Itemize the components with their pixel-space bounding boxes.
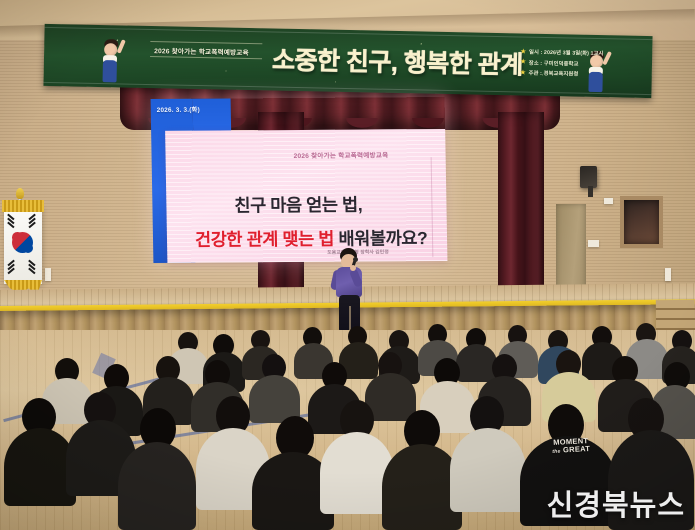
flag-finial-icon [16,188,24,199]
microphone-head-icon [353,257,358,262]
slide-eyebrow-text: 2026 찾아가는 학교폭력예방교육 [293,149,388,160]
banner-info-list: ★ 일시 : 2026년 3월 3일(화) 1교시 ★ 장소 : 구미인덕중학교… [520,47,641,81]
banner-info-text: 일시 : 2026년 3월 3일(화) 1교시 [529,48,604,57]
banner-info-item: ★ 장소 : 구미인덕중학교 [520,58,640,68]
taeguk-red-half [12,232,23,243]
student-body [450,428,526,512]
flag-fringe-top [2,200,44,212]
slide-headline-rest: 배워볼까요? [334,228,428,249]
banner-info-item: ★ 일시 : 2026년 3월 3일(화) 1교시 [520,47,640,57]
banner-info-text: 장소 : 구미인덕중학교 [529,58,579,67]
light-switch-icon [665,268,671,281]
presenter-hand [350,265,356,271]
star-icon: ★ [520,69,526,76]
speaker-bracket [588,186,593,197]
jacket-the: the [552,448,561,454]
projection-screen: 2026. 3. 3.(화) 2026 찾아가는 학교폭력예방교육 친구 마음 … [151,97,448,263]
stage-curtain-right [498,112,544,308]
banner-info-text: 주관 : 경북교육지원청 [529,69,579,78]
slide-date-label: 2026. 3. 3.(화) [157,105,200,114]
slide-headline-highlight: 건강한 관계 맺는 법 [195,229,334,250]
photo-canvas: 2026 찾아가는 학교폭력예방교육 소중한 친구, 행복한 관계 ★ 일시 :… [0,0,695,530]
wall-outlet-icon [588,240,599,247]
taeguk-blue-half [23,243,34,254]
light-switch-icon [45,268,51,281]
event-banner: 2026 찾아가는 학교폭력예방교육 소중한 친구, 행복한 관계 ★ 일시 :… [43,24,652,98]
star-icon: ★ [520,58,526,65]
wall-speaker-icon [580,166,597,188]
student-body [456,344,497,382]
news-watermark: 신경북뉴스 [547,482,685,524]
slide-headline-line2: 건강한 관계 맺는 법 배워볼까요? [195,225,428,252]
student-body [118,442,196,530]
jacket-line2: GREAT [563,444,591,454]
slide-guide-rule [431,157,434,257]
wall-outlet-icon [604,198,613,204]
slide-headline-line1: 친구 마음 얻는 법, [234,192,362,218]
presenter-speaker [330,248,370,332]
banner-info-item: ★ 주관 : 경북교육지원청 [520,68,640,78]
star-icon: ★ [520,48,526,55]
slide-content-panel: 2026 찾아가는 학교폭력예방교육 친구 마음 얻는 법, 건강한 관계 맺는… [165,129,447,263]
banner-subtitle: 2026 찾아가는 학교폭력예방교육 [154,45,249,57]
banner-title: 소중한 친구, 행복한 관계 [272,40,523,81]
projection-booth-window [620,196,663,248]
